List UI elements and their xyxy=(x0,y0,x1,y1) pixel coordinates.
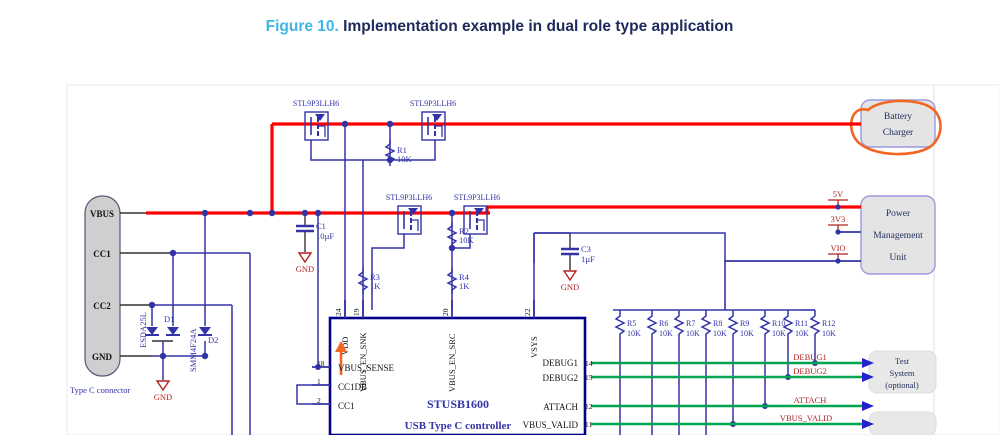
net-label-3v3-text: 3V3 xyxy=(831,214,846,224)
resistor-r4-value: 1K xyxy=(459,281,470,291)
ic-pin-11-number: 11 xyxy=(585,420,592,429)
signal-label-vbus-valid: VBUS_VALID xyxy=(780,413,832,423)
ground-label-connector: GND xyxy=(154,392,172,402)
esd-device1-label: ESDA25L xyxy=(138,312,148,348)
pullup-r5-value: 10K xyxy=(627,329,641,338)
ic-pin-1-number: 1 xyxy=(317,377,321,386)
resistor-r3-value: 1K xyxy=(370,281,381,291)
pullup-r9-value: 10K xyxy=(740,329,754,338)
pullup-r6-value: 10K xyxy=(659,329,673,338)
resistor-r4: R4 1K xyxy=(448,268,470,294)
connector-pin-vbus-label: VBUS xyxy=(90,209,114,219)
ic-pin-2-number: 2 xyxy=(317,396,321,405)
connector-pin-cc1-label: CC1 xyxy=(93,249,111,259)
resistor-r3: R3 1K xyxy=(359,268,381,294)
ic-pin-debug2-label: DEBUG2 xyxy=(543,373,579,383)
ic-part-number: STUSB1600 xyxy=(427,397,489,411)
block-pmu-line-3: Unit xyxy=(890,253,907,263)
pullup-r5-ref: R5 xyxy=(627,319,636,328)
block-lower-partial[interactable] xyxy=(869,412,936,435)
capacitor-c3-ref: C3 xyxy=(581,244,591,254)
pullup-r11-ref: R11 xyxy=(795,319,808,328)
type-c-connector[interactable]: VBUS CC1 CC2 GND xyxy=(85,196,120,376)
resistor-r2-value: 10K xyxy=(459,235,475,245)
pullup-r8-ref: R8 xyxy=(713,319,722,328)
connector-pin-cc2-label: CC2 xyxy=(93,301,111,311)
block-pmu-line-1: Power xyxy=(886,209,911,219)
ground-label-c3: GND xyxy=(561,282,579,292)
resistor-r1-value: 10K xyxy=(397,154,413,164)
block-pmu-line-2: Management xyxy=(873,231,923,241)
block-power-management-unit[interactable]: Power Management Unit xyxy=(861,196,935,274)
ic-pin-vbus-en-src-label: VBUS_EN_SRC xyxy=(447,333,457,392)
ic-pin-24-number: 24 xyxy=(334,308,343,316)
ic-pin-15-number: 15 xyxy=(585,373,593,382)
pullup-r8-value: 10K xyxy=(713,329,727,338)
mosfet-q3-part: STL9P3LLH6 xyxy=(386,193,432,202)
ic-pin-vbus-sense-label: VBUS_SENSE xyxy=(338,363,395,373)
ic-pin-12-number: 12 xyxy=(585,402,593,411)
pullup-r12-ref: R12 xyxy=(822,319,835,328)
ic-pin-cc1-label: CC1 xyxy=(338,401,355,411)
signal-label-debug1: DEBUG1 xyxy=(793,352,827,362)
ic-pin-debug1-label: DEBUG1 xyxy=(543,358,579,368)
ic-pin-19-number: 19 xyxy=(352,308,361,316)
figure-page: Figure 10. Implementation example in dua… xyxy=(0,0,999,435)
ic-pin-22-number: 22 xyxy=(523,308,532,316)
diode-d1-label: D1 xyxy=(164,314,174,324)
signal-label-debug2: DEBUG2 xyxy=(793,366,827,376)
net-label-vio-text: VIO xyxy=(830,243,845,253)
pullup-r9-ref: R9 xyxy=(740,319,749,328)
pullup-r10-value: 10K xyxy=(772,329,786,338)
mosfet-q1-part: STL9P3LLH6 xyxy=(293,99,339,108)
block-test-system-line-3: (optional) xyxy=(885,380,919,390)
ic-pin-cc1db-label: CC1DB xyxy=(338,382,367,392)
signal-label-attach: ATTACH xyxy=(794,395,827,405)
pullup-r12-value: 10K xyxy=(822,329,836,338)
pullup-r11-value: 10K xyxy=(795,329,809,338)
ic-description: USB Type C controller xyxy=(405,420,512,432)
block-test-system[interactable]: Test System (optional) xyxy=(869,351,936,393)
connector-caption: Type C connector xyxy=(70,385,130,395)
mosfet-q4-part: STL9P3LLH6 xyxy=(454,193,500,202)
ic-pin-vbus-valid-label: VBUS_VALID xyxy=(523,420,579,430)
schematic-canvas: Battery Charger Power Management Unit Te… xyxy=(0,0,999,435)
block-test-system-line-2: System xyxy=(889,368,914,378)
capacitor-c3-value: 1µF xyxy=(581,254,595,264)
ic-pin-20-number: 20 xyxy=(441,308,450,316)
block-battery-charger-line-2: Charger xyxy=(883,128,914,138)
block-test-system-line-1: Test xyxy=(895,356,910,366)
block-battery-charger-line-1: Battery xyxy=(884,112,912,122)
pullup-r7-ref: R7 xyxy=(686,319,695,328)
ic-pin-14-number: 14 xyxy=(585,359,593,368)
connector-pin-gnd-label: GND xyxy=(92,352,113,362)
capacitor-c1-value: 10µF xyxy=(316,231,334,241)
pullup-r7-value: 10K xyxy=(686,329,700,338)
pullup-r6-ref: R6 xyxy=(659,319,668,328)
mosfet-q2-part: STL9P3LLH6 xyxy=(410,99,456,108)
net-label-5v-text: 5V xyxy=(833,189,844,199)
ground-label-c1: GND xyxy=(296,264,314,274)
diode-d2-label: D2 xyxy=(208,335,218,345)
ic-pin-attach-label: ATTACH xyxy=(543,402,578,412)
ic-pin-vsys-label: VSYS xyxy=(529,336,539,358)
esd-device2-label: SMM4F24A xyxy=(188,328,198,372)
